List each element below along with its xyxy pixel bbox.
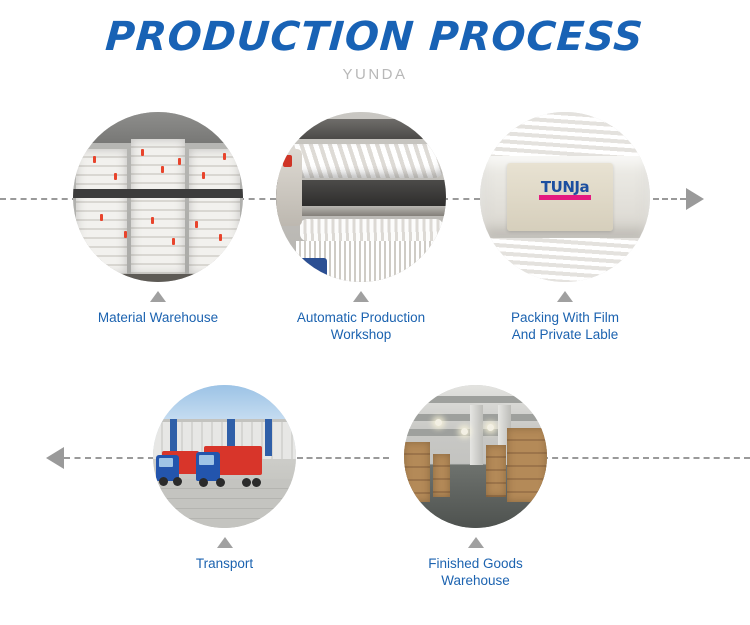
flow-dash-top-2-3 [442,198,480,200]
step-packing-with-film[interactable]: TUNJa Packing With Film And Private Labl… [480,112,650,343]
automatic-production-workshop-photo[interactable] [276,112,446,282]
step-pointer-icon [353,291,369,302]
flow-arrow-right-icon [686,188,704,210]
page-title: PRODUCTION PROCESS [0,0,750,58]
step-pointer-icon [468,537,484,548]
material-warehouse-photo[interactable] [73,112,243,282]
tunja-logo-text: TUNJa [539,180,591,194]
step-caption: Transport [153,555,296,572]
step-pointer-icon [150,291,166,302]
flow-dash-top-1-2 [238,198,276,200]
flow-arrow-left-icon [46,447,64,469]
tunja-brand-label: TUNJa [539,180,591,200]
flow-dash-top-right [644,198,686,200]
step-pointer-icon [217,537,233,548]
step-caption: Finished Goods Warehouse [404,555,547,589]
flow-dash-bottom-5-4 [297,457,389,459]
step-transport[interactable]: Transport [153,385,296,572]
flow-dash-bottom-right-edge [542,457,750,459]
step-material-warehouse[interactable]: Material Warehouse [73,112,243,326]
finished-goods-warehouse-photo[interactable] [404,385,547,528]
step-caption: Automatic Production Workshop [276,309,446,343]
step-pointer-icon [557,291,573,302]
packing-with-film-photo[interactable]: TUNJa [480,112,650,282]
step-finished-goods-warehouse[interactable]: Finished Goods Warehouse [404,385,547,589]
brand-subtitle: YUNDA [0,58,750,83]
flow-dash-left-edge-top [0,198,78,200]
flow-dash-bottom-left [64,457,154,459]
transport-photo[interactable] [153,385,296,528]
step-caption: Material Warehouse [73,309,243,326]
step-automatic-production-workshop[interactable]: Automatic Production Workshop [276,112,446,343]
production-process-infographic: PRODUCTION PROCESS YUNDA [0,0,750,625]
header: PRODUCTION PROCESS YUNDA [0,0,750,83]
step-caption: Packing With Film And Private Lable [480,309,650,343]
